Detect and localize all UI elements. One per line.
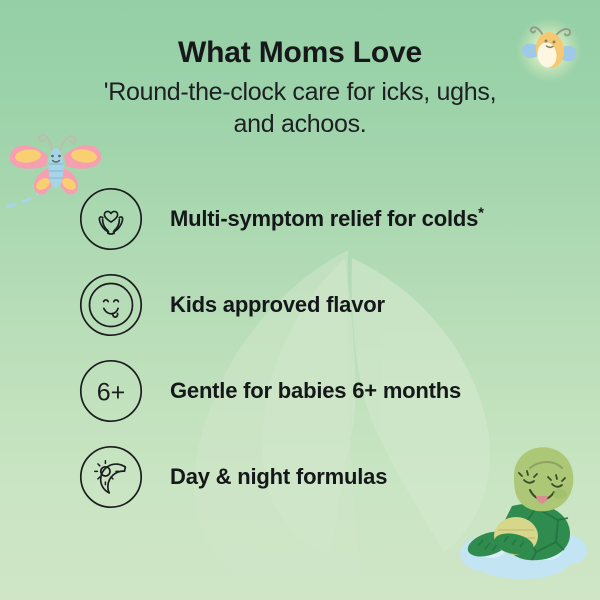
feature-label: Gentle for babies 6+ months [170,378,461,404]
feature-label-text: Day & night formulas [170,464,387,489]
six-plus-icon: 6+ [78,358,144,424]
page-subtitle: 'Round-the-clock care for icks, ughs, an… [85,76,515,140]
feature-label-text: Multi-symptom relief for colds [170,206,478,231]
feature-item: 6+ Gentle for babies 6+ months [78,358,576,424]
header-block: What Moms Love 'Round-the-clock care for… [0,36,600,140]
feature-label-text: Gentle for babies 6+ months [170,378,461,403]
feature-label: Day & night formulas [170,464,387,490]
hands-holding-heart-icon [78,186,144,252]
feature-label: Multi-symptom relief for colds* [170,206,484,232]
feature-item: Multi-symptom relief for colds* [78,186,576,252]
feature-item: Kids approved flavor [78,272,576,338]
feature-list: Multi-symptom relief for colds* Kids app… [78,186,576,510]
smiley-tongue-icon [78,272,144,338]
feature-label-text: Kids approved flavor [170,292,385,317]
page-title: What Moms Love [0,36,600,70]
six-plus-icon-text: 6+ [97,379,126,407]
product-benefits-card: What Moms Love 'Round-the-clock care for… [0,0,600,600]
footnote-asterisk: * [478,205,484,222]
sun-moon-icon [78,444,144,510]
feature-item: Day & night formulas [78,444,576,510]
feature-label: Kids approved flavor [170,292,385,318]
